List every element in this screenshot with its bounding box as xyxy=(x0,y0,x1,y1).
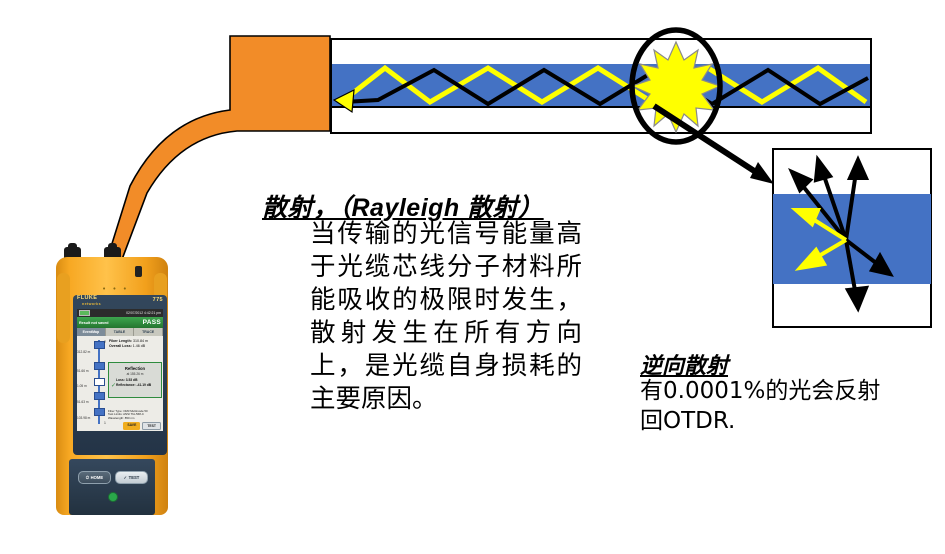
screen-content: 312.82 m 51.66 m 1.05 m 51.63 m 103.98 m… xyxy=(77,336,163,431)
event-distance-4: 51.63 m xyxy=(77,400,89,404)
reflection-detail-card[interactable]: ✓ Reflection at 155.26 m Loss: 3.53 dB R… xyxy=(108,362,162,398)
fiber-length-label: Fiber Length: xyxy=(109,339,132,343)
event-node-3[interactable] xyxy=(94,378,105,386)
device-faceplate: FLUKE networks 775 02/07/2012 4:42:21 pm… xyxy=(73,295,167,455)
power-icon: ⏻ xyxy=(86,475,89,480)
reflection-title: Reflection xyxy=(109,366,161,371)
brand-bar: FLUKE networks 775 xyxy=(73,295,167,308)
model-number: 775 xyxy=(153,297,163,303)
overall-loss-label: Overall Loss: xyxy=(109,344,132,348)
brand-sub: networks xyxy=(82,302,101,306)
event-node-2[interactable] xyxy=(94,362,105,370)
slide-canvas: 散射，（Rayleigh 散射） 当传输的光信号能量高于光缆芯线分子材料所能吸收… xyxy=(0,0,945,554)
reflection-loss-row: Loss: 3.53 dB xyxy=(116,378,161,382)
reflectance-label: Reflectance: xyxy=(116,383,136,387)
vent-dots: • • • xyxy=(102,287,129,292)
event-number-2: 2 xyxy=(104,340,106,344)
detail-pointer-arrow xyxy=(650,100,790,195)
detail-scatter-rays xyxy=(774,150,930,326)
overall-loss-value: 1.46 dB xyxy=(133,344,145,348)
event-distance-5: 103.98 m xyxy=(77,416,90,420)
test-button[interactable]: ✓ TEST xyxy=(115,471,148,484)
fiber-info-block: Fiber Type: OM3 Multimode 50 Test Limits… xyxy=(108,410,148,421)
event-number-1: 1 xyxy=(104,421,106,425)
fiber-length-value: 310.84 m xyxy=(133,339,148,343)
save-button[interactable]: SAVE xyxy=(123,422,140,430)
tab-trace[interactable]: TRACE xyxy=(134,328,163,336)
pass-badge: PASS xyxy=(143,319,161,326)
tab-eventmap[interactable]: EventMap xyxy=(77,328,106,336)
patch-cable-connector xyxy=(85,18,345,278)
home-button[interactable]: ⏻ HOME xyxy=(78,471,111,484)
test-button-label: TEST xyxy=(129,475,140,480)
device-control-panel: ⏻ HOME ✓ TEST xyxy=(69,459,155,515)
home-button-label: HOME xyxy=(91,475,104,480)
reflection-loss-value: 3.53 dB xyxy=(126,378,138,382)
screen-datetime: 02/07/2012 4:42:21 pm xyxy=(126,311,161,315)
reflection-loss-label: Loss: xyxy=(116,378,125,382)
power-led-icon xyxy=(108,492,118,502)
screen-softkeys[interactable]: SAVE TEST xyxy=(123,422,161,430)
event-distance-1: 312.82 m xyxy=(77,350,90,354)
battery-icon xyxy=(79,310,90,317)
event-map[interactable]: 312.82 m 51.66 m 1.05 m 51.63 m 103.98 m… xyxy=(77,336,107,431)
event-distance-3: 1.05 m xyxy=(77,384,87,388)
screen-status-bar: 02/07/2012 4:42:21 pm xyxy=(77,309,163,317)
check-icon: ✓ xyxy=(124,475,128,480)
bumper-left xyxy=(57,273,70,343)
screen-result-bar: Result not saved PASS xyxy=(77,317,163,328)
check-icon: ✓ xyxy=(111,382,116,389)
device-housing: • • • FLUKE networks 775 02/07/2012 4:42… xyxy=(56,257,168,515)
measurement-summary: Fiber Length: 310.84 m Overall Loss: 1.4… xyxy=(109,339,148,349)
event-distance-2: 51.66 m xyxy=(77,369,89,373)
brand-name: FLUKE xyxy=(77,296,97,302)
reflectance-value: -41.19 dB xyxy=(137,383,152,387)
otdr-device: • • • FLUKE networks 775 02/07/2012 4:42… xyxy=(48,243,176,518)
event-node-5[interactable] xyxy=(94,408,105,416)
fiber-light-rays xyxy=(330,38,872,134)
reflectance-row: Reflectance: -41.19 dB xyxy=(116,383,161,387)
device-screen[interactable]: 02/07/2012 4:42:21 pm Result not saved P… xyxy=(77,309,163,431)
scattering-body-text: 当传输的光信号能量高于光缆芯线分子材料所能吸收的极限时发生，散射发生在所有方向上… xyxy=(310,218,582,416)
usb-port[interactable] xyxy=(135,266,142,277)
scatter-detail-magnifier xyxy=(772,148,932,328)
tab-table[interactable]: TABLE xyxy=(106,328,135,336)
result-save-status: Result not saved xyxy=(79,321,109,325)
return-arrowhead xyxy=(334,90,354,112)
fiber-diagram xyxy=(330,38,872,134)
backscatter-body-text: 有0.0001%的光会反射回OTDR. xyxy=(640,376,890,436)
reflection-distance: at 155.26 m xyxy=(109,372,161,376)
test-softkey[interactable]: TEST xyxy=(142,422,161,430)
screen-tabs[interactable]: EventMap TABLE TRACE xyxy=(77,328,163,336)
event-node-4[interactable] xyxy=(94,392,105,400)
wavelength-line: Wavelength: 850 nm xyxy=(108,417,148,421)
